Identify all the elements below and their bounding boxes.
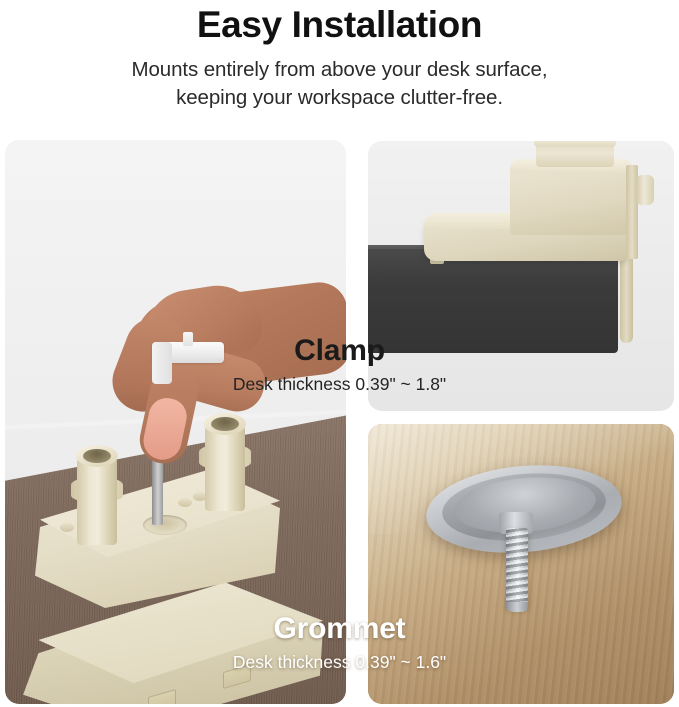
threaded-bolt — [506, 528, 528, 608]
page-subtitle-line-2: keeping your workspace clutter-free. — [176, 86, 503, 109]
base-boss — [60, 523, 74, 532]
clamp-adjust-knob — [636, 175, 654, 205]
caption-grommet: Grommet Desk thickness 0.39" ~ 1.6" — [0, 612, 679, 673]
caption-clamp: Clamp Desk thickness 0.39" ~ 1.8" — [0, 334, 679, 395]
base-boss — [178, 498, 192, 507]
page-subtitle: Mounts entirely from above your desk sur… — [0, 45, 679, 111]
caption-clamp-label: Clamp — [0, 334, 679, 367]
mount-post-left — [77, 455, 117, 545]
header: Easy Installation Mounts entirely from a… — [0, 0, 679, 111]
screw-recess — [143, 515, 187, 535]
caption-grommet-label: Grommet — [0, 612, 679, 645]
page-subtitle-line-1: Mounts entirely from above your desk sur… — [132, 58, 548, 81]
caption-clamp-spec: Desk thickness 0.39" ~ 1.8" — [0, 367, 679, 395]
threaded-bolt-tip — [506, 602, 528, 612]
clamp-neck-cap — [534, 141, 616, 147]
page-title: Easy Installation — [0, 0, 679, 45]
clamp-body — [510, 163, 632, 235]
caption-grommet-spec: Desk thickness 0.39" ~ 1.6" — [0, 645, 679, 673]
